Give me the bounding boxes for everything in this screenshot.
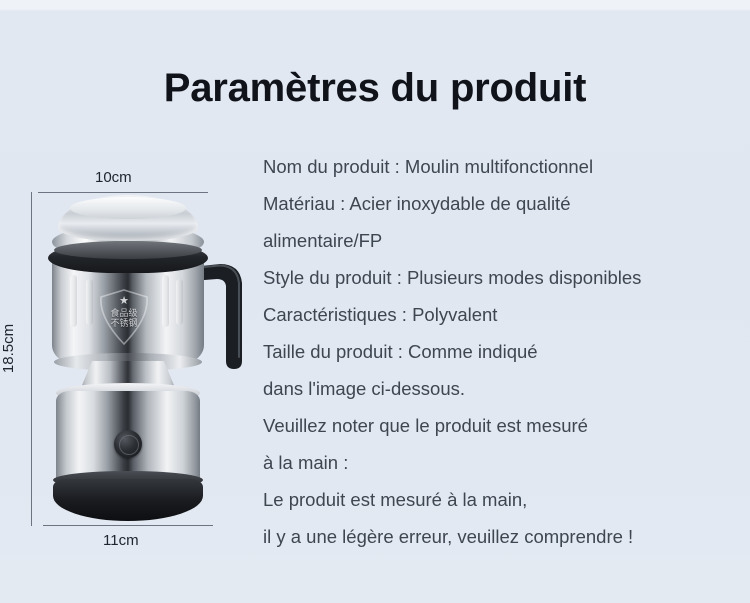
spec-line: il y a une légère erreur, veuillez compr… <box>263 518 743 555</box>
spec-line: Nom du produit : Moulin multifonctionnel <box>263 148 743 185</box>
grinder-illustration: ★ 食品级 不锈钢 <box>40 195 215 525</box>
cup-flute <box>70 275 77 327</box>
emblem-star-icon: ★ <box>95 294 153 307</box>
product-spec-list: Nom du produit : Moulin multifonctionnel… <box>263 148 743 555</box>
cup-rim-collar-top <box>54 241 202 259</box>
emblem-text-line1: 食品级 <box>95 308 153 318</box>
dimension-line-top-width <box>38 192 208 193</box>
dimension-label-top-width: 10cm <box>95 169 132 186</box>
page-title: Paramètres du produit <box>0 66 750 111</box>
spec-line: dans l'image ci-dessous. <box>263 370 743 407</box>
emblem-text: 食品级 不锈钢 <box>95 308 153 328</box>
dimension-line-height <box>31 192 32 526</box>
spec-line: à la main : <box>263 444 743 481</box>
power-button[interactable] <box>114 430 142 458</box>
spec-line: Style du produit : Plusieurs modes dispo… <box>263 259 743 296</box>
spec-line: Taille du produit : Comme indiqué <box>263 333 743 370</box>
spec-line: Matériau : Acier inoxydable de qualité <box>263 185 743 222</box>
grinder-lid-top <box>70 197 186 219</box>
spec-line: Le produit est mesuré à la main, <box>263 481 743 518</box>
dimension-label-bottom-width: 11cm <box>103 532 139 549</box>
spec-line: Veuillez noter que le produit est mesuré <box>263 407 743 444</box>
product-image-panel: 10cm 18.5cm 11cm ★ 食品级 <box>0 150 255 550</box>
cup-flute <box>86 279 93 325</box>
cup-flute <box>162 275 169 327</box>
product-spec-page: Paramètres du produit 10cm 18.5cm 11cm <box>0 0 750 603</box>
emblem-text-line2: 不锈钢 <box>95 318 153 328</box>
dimension-line-bottom-width <box>43 525 213 526</box>
cup-flute <box>176 279 183 325</box>
spec-line: alimentaire/FP <box>263 222 743 259</box>
spec-line: Caractéristiques : Polyvalent <box>263 296 743 333</box>
food-grade-emblem: ★ 食品级 不锈钢 <box>95 288 153 346</box>
power-button-ring <box>119 435 139 455</box>
dimension-label-height: 18.5cm <box>0 324 17 373</box>
base-foot-ring <box>53 479 203 521</box>
